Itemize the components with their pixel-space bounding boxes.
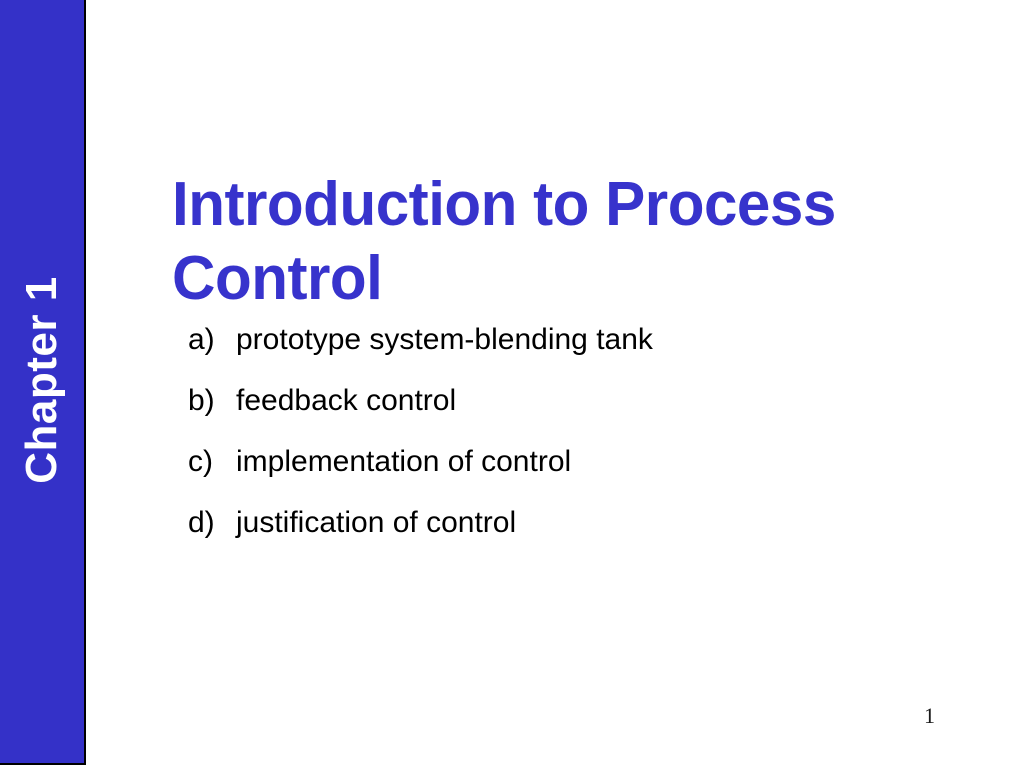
slide-canvas: Chapter 1 Introduction to Process Contro… (0, 0, 1024, 768)
list-item-marker: d) (188, 505, 236, 541)
list-item-marker: b) (188, 383, 236, 419)
list-item: c) implementation of control (188, 444, 888, 505)
list-item-label: justification of control (236, 505, 516, 541)
list-item: d) justification of control (188, 505, 888, 566)
list-item-label: prototype system-blending tank (236, 322, 653, 358)
chapter-label: Chapter 1 (20, 276, 64, 483)
list-item-marker: c) (188, 444, 236, 480)
chapter-sidebar: Chapter 1 (0, 0, 86, 765)
page-title: Introduction to Process Control (172, 168, 880, 316)
list-item: b) feedback control (188, 383, 888, 444)
page-number: 1 (924, 703, 964, 729)
agenda-list: a) prototype system-blending tank b) fee… (188, 322, 888, 566)
list-item-marker: a) (188, 322, 236, 358)
list-item: a) prototype system-blending tank (188, 322, 888, 383)
list-item-label: implementation of control (236, 444, 571, 480)
list-item-label: feedback control (236, 383, 456, 419)
